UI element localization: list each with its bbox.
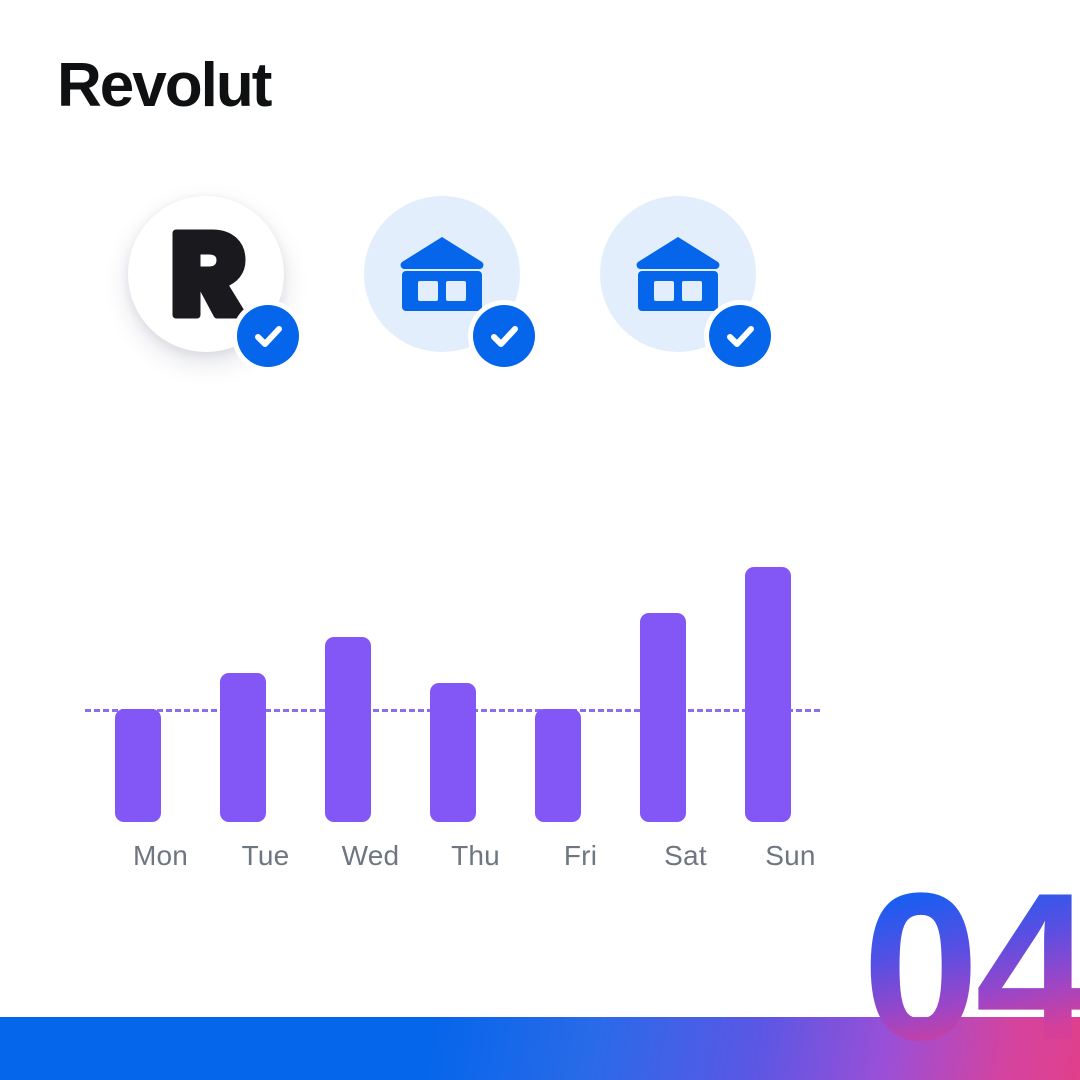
x-label-sat: Sat [626,840,746,872]
slide-canvas: Revolut MonTueWedThuFriSatSun 04 [0,0,1080,1080]
linked-accounts-row [0,196,1080,396]
x-label-wed: Wed [311,840,431,872]
bank-icon [636,235,720,313]
verified-check-icon [709,305,771,367]
verified-check-icon [237,305,299,367]
x-label-tue: Tue [206,840,326,872]
bank-icon [400,235,484,313]
x-label-mon: Mon [101,840,221,872]
chart-plot-area [85,540,820,822]
verified-check-icon [473,305,535,367]
account-bank-account-1[interactable] [364,196,544,376]
bar-fill [430,683,476,822]
verified-check-badge [468,300,540,372]
account-revolut-account[interactable] [128,196,308,376]
verified-check-badge [232,300,304,372]
x-label-fri: Fri [521,840,641,872]
bar-fill [640,613,686,822]
x-label-thu: Thu [416,840,536,872]
weekly-bar-chart: MonTueWedThuFriSatSun [0,540,1080,880]
step-number: 04 [862,862,1080,1072]
x-label-sun: Sun [731,840,851,872]
chart-x-axis-labels: MonTueWedThuFriSatSun [85,840,820,880]
bar-fill [220,673,266,822]
bar-fill [745,567,791,822]
revolut-wordmark: Revolut [57,55,270,117]
revolut-r-icon [163,229,249,319]
account-bank-account-2[interactable] [600,196,780,376]
bar-fill [325,637,371,822]
bar-fill [115,709,161,822]
verified-check-badge [704,300,776,372]
bar-fill [535,709,581,822]
